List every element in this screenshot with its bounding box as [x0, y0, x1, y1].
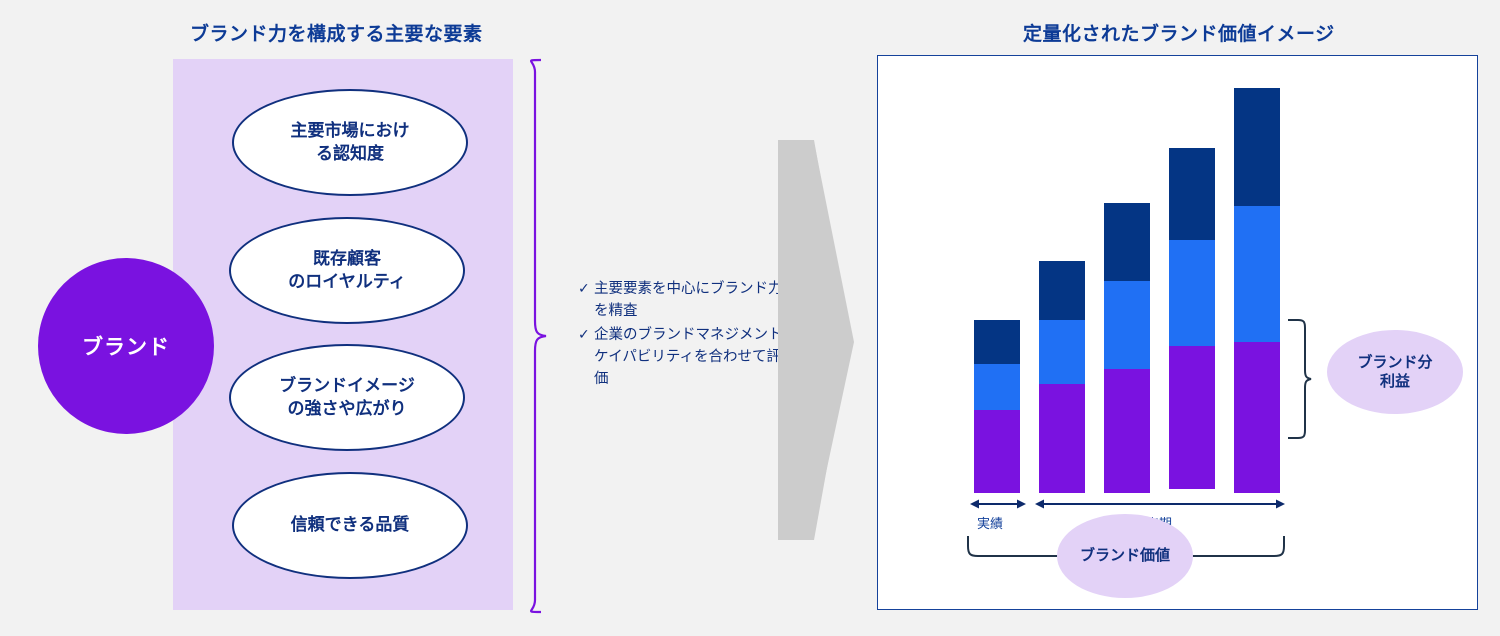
check-icon: ✓ [578, 278, 594, 299]
bar-segment-top [1039, 261, 1085, 320]
callout-brand-value: ブランド価値 [1057, 514, 1193, 598]
bar-future-4 [1234, 88, 1280, 493]
bar-segment-middle [1104, 281, 1150, 369]
check-icon: ✓ [578, 324, 594, 345]
bar-segment-middle [1039, 320, 1085, 384]
bar-segment-bottom [1039, 384, 1085, 493]
bar-segment-top [1169, 148, 1215, 240]
bar-segment-bottom [1104, 369, 1150, 493]
list-item: ✓ 企業のブランドマネジメントケイパビリティを合わせて評価 [578, 324, 790, 390]
brand-profit-brace-icon [1286, 318, 1312, 440]
callout-label: ブランド分 利益 [1357, 353, 1432, 392]
factor-label: 主要市場におけ る認知度 [291, 120, 410, 166]
list-item-label: 企業のブランドマネジメントケイパビリティを合わせて評価 [594, 324, 790, 390]
bar-future-2 [1104, 203, 1150, 493]
right-arrow-icon [778, 140, 868, 540]
bar-segment-top [1234, 88, 1280, 206]
callout-label: ブランド価値 [1080, 546, 1170, 566]
factor-ellipse-image[interactable]: ブランドイメージ の強さや広がり [229, 344, 465, 451]
factor-ellipse-quality[interactable]: 信頼できる品質 [232, 472, 468, 579]
bar-segment-top [974, 320, 1020, 364]
axis-label-actual: 実績 [977, 513, 1003, 532]
factor-label: ブランドイメージ の強さや広がり [279, 375, 415, 421]
bar-segment-bottom [1234, 342, 1280, 493]
right-section-title: 定量化されたブランド価値イメージ [1023, 19, 1335, 46]
future-range-arrow-icon [1035, 496, 1285, 512]
list-item: ✓ 主要要素を中心にブランド力を精査 [578, 278, 790, 322]
actual-range-arrow-icon [970, 496, 1026, 512]
bar-future-1 [1039, 261, 1085, 493]
bar-segment-bottom [1169, 346, 1215, 489]
bullet-list: ✓ 主要要素を中心にブランド力を精査 ✓ 企業のブランドマネジメントケイパビリテ… [578, 278, 790, 392]
bar-segment-middle [1169, 240, 1215, 346]
bar-segment-bottom [974, 410, 1020, 493]
factor-label: 信頼できる品質 [291, 514, 410, 537]
purple-curly-brace-icon [513, 58, 553, 614]
factor-label: 既存顧客 のロイヤルティ [288, 248, 405, 294]
left-section-title: ブランド力を構成する主要な要素 [190, 19, 483, 46]
list-item-label: 主要要素を中心にブランド力を精査 [594, 278, 790, 322]
brand-circle: ブランド [38, 258, 214, 434]
factor-ellipse-awareness[interactable]: 主要市場におけ る認知度 [232, 89, 468, 196]
bar-future-3 [1169, 148, 1215, 493]
bar-actual [974, 320, 1020, 493]
callout-brand-profit: ブランド分 利益 [1327, 330, 1463, 414]
brand-circle-label: ブランド [82, 331, 170, 361]
factor-ellipse-loyalty[interactable]: 既存顧客 のロイヤルティ [229, 217, 465, 324]
bar-segment-middle [974, 364, 1020, 410]
bar-segment-top [1104, 203, 1150, 281]
bar-segment-middle [1234, 206, 1280, 342]
